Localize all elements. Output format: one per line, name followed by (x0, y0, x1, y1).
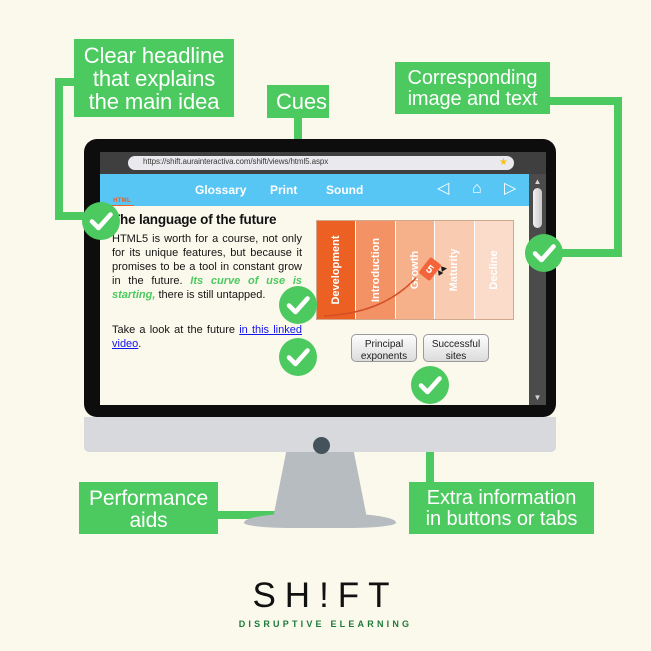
connector-headline-vertical (55, 78, 63, 220)
toolbar-item-glossary[interactable]: Glossary (195, 183, 246, 197)
address-field[interactable]: https://shift.aurainteractiva.com/shift/… (128, 156, 514, 170)
chart-stage-label: Introduction (370, 238, 382, 302)
chart-stage-label: Maturity (448, 249, 460, 292)
browser-url-bar: https://shift.aurainteractiva.com/shift/… (100, 152, 546, 174)
paragraph-two-after: . (138, 338, 141, 350)
chart-stage: Development (317, 221, 356, 319)
brand-tagline: DISRUPTIVE ELEARNING (0, 619, 651, 629)
check-badge-image-text (525, 234, 563, 272)
connector-imagetext-top (548, 97, 622, 105)
browser-window: https://shift.aurainteractiva.com/shift/… (100, 152, 546, 405)
chart-stage-label: Development (330, 235, 342, 304)
star-icon[interactable]: ★ (499, 158, 508, 168)
callout-performance-aids: Performance aids (79, 482, 218, 534)
button-principal-exponents[interactable]: Principalexponents (351, 334, 417, 362)
brand-part1: SH (252, 576, 319, 615)
course-toolbar: HTML 5 Glossary Print Sound ◁ ⌂ ▷ (100, 174, 529, 206)
callout-cues: Cues (267, 85, 329, 118)
scrollbar[interactable]: ▲ ▼ (529, 174, 546, 405)
callout-clear-headline: Clear headline that explains the main id… (74, 39, 234, 117)
paragraph-one-after: there is still untapped. (155, 289, 265, 301)
back-arrow-icon[interactable]: ◁ (437, 181, 449, 197)
brand-part2: FT (338, 576, 399, 615)
brand-wordmark: SH!FT (0, 576, 651, 616)
address-text: https://shift.aurainteractiva.com/shift/… (143, 157, 328, 166)
home-icon[interactable]: ⌂ (472, 181, 482, 197)
chart-stage: Introduction (356, 221, 395, 319)
button-successful-sites[interactable]: Successfulsites (423, 334, 489, 362)
callout-corresponding-image-text: Corresponding image and text (395, 62, 550, 114)
toolbar-item-print[interactable]: Print (270, 183, 297, 197)
infographic-canvas: https://shift.aurainteractiva.com/shift/… (0, 0, 651, 651)
scroll-up-icon[interactable]: ▲ (529, 177, 546, 186)
check-badge-headline (82, 202, 120, 240)
check-badge-extra-info (411, 366, 449, 404)
connector-imagetext-vertical (614, 97, 622, 257)
paragraph-two: Take a look at the future in this linked… (112, 323, 302, 351)
paragraph-two-before: Take a look at the future (112, 324, 239, 336)
power-indicator (313, 437, 330, 454)
scrollbar-thumb[interactable] (533, 188, 542, 228)
paragraph-one: HTML5 is worth for a course, not only fo… (112, 232, 302, 302)
toolbar-item-sound[interactable]: Sound (326, 183, 363, 197)
scroll-down-icon[interactable]: ▼ (529, 393, 546, 402)
chart-stage-label: Decline (488, 250, 500, 289)
callout-extra-information: Extra information in buttons or tabs (409, 482, 594, 534)
monitor-base (244, 514, 396, 528)
forward-arrow-icon[interactable]: ▷ (504, 181, 516, 197)
brand-logo: SH!FT DISRUPTIVE ELEARNING (0, 576, 651, 629)
chart-stage: Decline (475, 221, 513, 319)
page-title: The language of the future (112, 212, 322, 227)
check-badge-performance (279, 338, 317, 376)
check-badge-cues (279, 286, 317, 324)
brand-bang: ! (319, 576, 338, 615)
